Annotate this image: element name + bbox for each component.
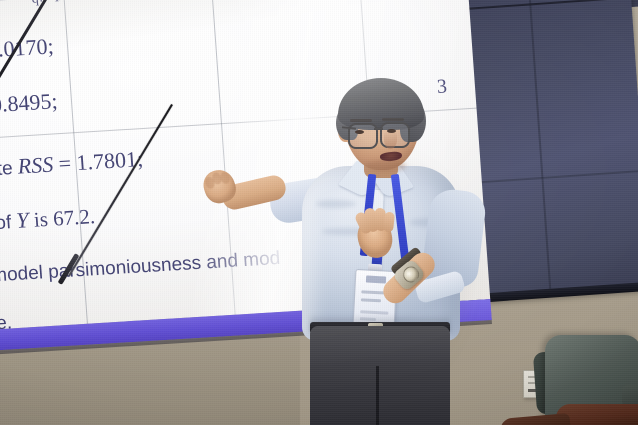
eyeglasses-bridge <box>374 128 383 130</box>
eyebrow-right <box>382 118 404 121</box>
eyebrow-left <box>350 119 372 122</box>
finger <box>383 212 395 233</box>
eye-left <box>355 130 364 134</box>
badge-logo <box>366 276 386 284</box>
presenter-trousers <box>310 326 450 425</box>
slide-line-rss: riate RSS = 1.7801; <box>0 146 144 182</box>
slide-line-formula: Bq|xi)}]2 <box>16 0 93 9</box>
formula-symbol-B: B <box>16 0 32 3</box>
rss-symbol: RSS <box>17 152 54 179</box>
slide-line-mean: e of Y is 67.2. <box>0 203 96 236</box>
slide-line-value-2: = 0.8495; <box>0 88 58 119</box>
trouser-leg-seam <box>376 366 379 425</box>
slide-line-parsimony: model parsimoniousness and mod <box>0 248 281 288</box>
rss-prefix: riate <box>0 158 19 182</box>
badge-text-line <box>361 298 381 302</box>
panel-seam <box>527 0 552 297</box>
presenter <box>280 78 490 425</box>
photo-scene: G(B Bq|xi)}]2 /n = 56.7057(47.6360) = 1.… <box>0 0 638 425</box>
formula-close: )}] <box>57 0 85 1</box>
shirt-fold <box>316 200 356 208</box>
mean-prefix: e of <box>0 212 17 235</box>
presenter-nose <box>384 130 397 149</box>
slide-line-formula-prefix: G(B <box>0 0 12 8</box>
mean-value: is 67.2. <box>28 204 96 232</box>
presenter-hair <box>338 78 424 130</box>
chin-shadow <box>366 160 406 172</box>
